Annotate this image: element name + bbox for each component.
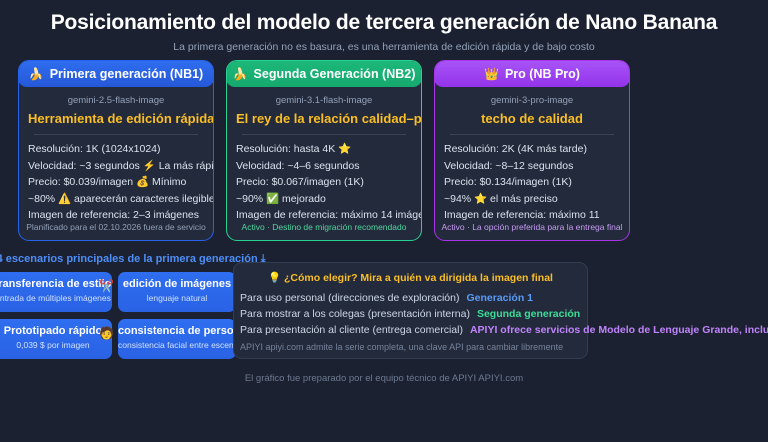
model-cards-row: 🍌 Primera generación (NB1) gemini-2.5-fl… — [18, 60, 750, 241]
advice-note: APIYI apiyi.com admite la serie completa… — [234, 340, 587, 354]
tagline-gen2: El rey de la relación calidad–precio — [236, 109, 412, 128]
spec-speed: Velocidad: ~8–12 segundos — [444, 158, 620, 175]
card-divider — [34, 134, 198, 135]
model-id-gen2: gemini-3.1-flash-image — [236, 94, 412, 108]
advice-answer: Generación 1 — [466, 290, 533, 306]
advice-row-personal: Para uso personal (direcciones de explor… — [240, 290, 587, 306]
spec-speed: Velocidad: ~4–6 segundos — [236, 158, 412, 175]
advice-heading-text: ¿Cómo elegir? Mira a quién va dirigida l… — [284, 272, 553, 284]
spec-price: Precio: $0.039/imagen 💰 Mínimo — [28, 174, 204, 191]
card-title-pro: Pro (NB Pro) — [505, 67, 580, 81]
advice-panel: 💡 ¿Cómo elegir? Mira a quién va dirigida… — [233, 262, 588, 359]
card-title-gen1: Primera generación (NB1) — [50, 67, 204, 81]
scenario-subtitle: lenguaje natural — [118, 292, 236, 305]
scenario-character-consistency[interactable]: 🧑 consistencia de personaje consistencia… — [118, 319, 236, 359]
model-id-pro: gemini-3-pro-image — [444, 94, 620, 108]
model-id-gen1: gemini-2.5-flash-image — [28, 94, 204, 108]
scenarios-row-2: ⚡ Prototipado rápido 0,039 $ por imagen … — [0, 319, 234, 359]
card-status-gen2: Activo · Destino de migración recomendad… — [227, 221, 421, 233]
model-card-gen2[interactable]: 🍌 Segunda Generación (NB2) gemini-3.1-fl… — [226, 60, 422, 241]
scenario-title: transferencia de estilo — [0, 277, 112, 292]
spec-price: Precio: $0.067/imagen (1K) — [236, 174, 412, 191]
spec-resolution: Resolución: 1K (1024x1024) — [28, 141, 204, 158]
lightbulb-icon: 💡 — [268, 272, 281, 284]
scenario-image-editing[interactable]: ✂️ edición de imágenes lenguaje natural — [118, 272, 236, 312]
spec-resolution: Resolución: 2K (4K más tarde) — [444, 141, 620, 158]
scenarios-heading: Los 4 escenarios principales de la prime… — [0, 253, 244, 266]
card-status-pro: Activo · La opción preferida para la ent… — [435, 221, 629, 233]
scissors-icon: ✂️ — [99, 279, 114, 293]
spec-accuracy: ~94% ⭐ el más preciso — [444, 191, 620, 208]
card-divider — [242, 134, 406, 135]
card-status-gen1: Planificado para el 02.10.2026 fuera de … — [19, 221, 213, 233]
scenario-subtitle: consistencia facial entre escenas — [118, 339, 236, 352]
scenario-title: consistencia de personaje — [118, 324, 236, 339]
page-subtitle: La primera generación no es basura, es u… — [0, 39, 768, 55]
scenario-subtitle: 0,039 $ por imagen — [0, 339, 112, 352]
card-body-gen2: gemini-3.1-flash-image El rey de la rela… — [227, 87, 421, 224]
advice-answer: APIYI ofrece servicios de Modelo de Leng… — [470, 322, 768, 338]
card-header-gen2: 🍌 Segunda Generación (NB2) — [226, 60, 422, 87]
advice-answer: Segunda generación — [477, 306, 580, 322]
person-icon: 🧑 — [99, 326, 114, 340]
advice-row-client: Para presentación al cliente (entrega co… — [240, 322, 587, 338]
tagline-pro: techo de calidad — [444, 109, 620, 128]
advice-row-internal: Para mostrar a los colegas (presentación… — [240, 306, 587, 322]
advice-rows: Para uso personal (direcciones de explor… — [234, 290, 587, 338]
scenarios-grid: 🎨 transferencia de estilo entrada de múl… — [0, 272, 234, 366]
crown-icon: 👑 — [484, 67, 499, 81]
scenario-style-transfer[interactable]: 🎨 transferencia de estilo entrada de múl… — [0, 272, 112, 312]
spec-resolution: Resolución: hasta 4K ⭐ — [236, 141, 412, 158]
spec-price: Precio: $0.134/imagen (1K) — [444, 174, 620, 191]
model-card-pro[interactable]: 👑 Pro (NB Pro) gemini-3-pro-image techo … — [434, 60, 630, 241]
scenario-title: edición de imágenes — [118, 277, 236, 292]
tagline-gen1: Herramienta de edición rápida — [28, 109, 204, 128]
banana-icon: 🍌 — [233, 67, 248, 81]
spec-accuracy: ~80% ⚠️ aparecerán caracteres ilegibles — [28, 191, 204, 208]
card-body-gen1: gemini-2.5-flash-image Herramienta de ed… — [19, 87, 213, 224]
advice-question: Para mostrar a los colegas (presentación… — [240, 306, 470, 322]
scenario-rapid-prototyping[interactable]: ⚡ Prototipado rápido 0,039 $ por imagen — [0, 319, 112, 359]
page-title: Posicionamiento del modelo de tercera ge… — [0, 9, 768, 37]
scenario-title: Prototipado rápido — [0, 324, 112, 339]
card-body-pro: gemini-3-pro-image techo de calidad Reso… — [435, 87, 629, 224]
page-header: Posicionamiento del modelo de tercera ge… — [0, 0, 768, 55]
scenario-subtitle: entrada de múltiples imágenes — [0, 292, 112, 305]
advice-heading: 💡 ¿Cómo elegir? Mira a quién va dirigida… — [234, 271, 587, 286]
advice-question: Para presentación al cliente (entrega co… — [240, 322, 463, 338]
infographic-page: Posicionamiento del modelo de tercera ge… — [0, 0, 768, 442]
model-card-gen1[interactable]: 🍌 Primera generación (NB1) gemini-2.5-fl… — [18, 60, 214, 241]
card-header-gen1: 🍌 Primera generación (NB1) — [18, 60, 214, 87]
spec-speed: Velocidad: ~3 segundos ⚡ La más rápida — [28, 158, 204, 175]
scenarios-row-1: 🎨 transferencia de estilo entrada de múl… — [0, 272, 234, 312]
card-divider — [450, 134, 614, 135]
banana-icon: 🍌 — [29, 67, 44, 81]
card-title-gen2: Segunda Generación (NB2) — [254, 67, 416, 81]
page-footer: El gráfico fue preparado por el equipo t… — [0, 372, 768, 386]
spec-accuracy: ~90% ✅ mejorado — [236, 191, 412, 208]
lower-section: Los 4 escenarios principales de la prime… — [0, 248, 768, 378]
card-header-pro: 👑 Pro (NB Pro) — [434, 60, 630, 87]
advice-question: Para uso personal (direcciones de explor… — [240, 290, 459, 306]
